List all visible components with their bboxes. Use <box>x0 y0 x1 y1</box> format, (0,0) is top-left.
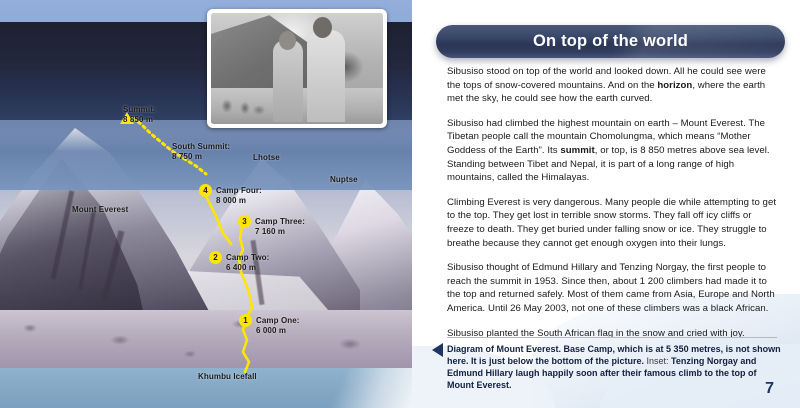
label-camp-four: Camp Four: 8 000 m <box>216 186 262 206</box>
book-spread: Summit: 8 850 m South Summit: 8 750 m Lh… <box>0 0 800 408</box>
label-mount-everest: Mount Everest <box>72 205 128 215</box>
label-khumbu-icefall: Khumbu Icefall <box>198 372 257 382</box>
paragraph-3: Climbing Everest is very dangerous. Many… <box>447 196 779 250</box>
article-title-bar: On top of the world <box>436 25 785 58</box>
photo-head-hillary <box>313 17 332 38</box>
figure-caption: Diagram of Mount Everest. Base Camp, whi… <box>447 343 782 391</box>
label-camp-one: Camp One: 6 000 m <box>256 316 300 336</box>
photo-background-figures <box>219 94 265 116</box>
caption-arrow-icon <box>432 343 443 357</box>
label-south-summit: South Summit: 8 750 m <box>172 142 230 162</box>
photo-person-hillary <box>307 30 345 122</box>
paragraph-1: Sibusiso stood on top of the world and l… <box>447 65 779 106</box>
label-lhotse: Lhotse <box>253 153 280 163</box>
page-title: On top of the world <box>436 25 785 58</box>
caption-text: Diagram of Mount Everest. Base Camp, whi… <box>447 343 782 391</box>
label-camp-two: Camp Two: 6 400 m <box>226 253 269 273</box>
inset-photo-frame <box>207 9 387 128</box>
paragraph-2: Sibusiso had climbed the highest mountai… <box>447 117 779 185</box>
paragraph-5: Sibusiso planted the South African flag … <box>447 327 779 341</box>
left-page-diagram: Summit: 8 850 m South Summit: 8 750 m Lh… <box>0 0 412 408</box>
camp-marker-4: 4 <box>199 184 212 197</box>
article-body: Sibusiso stood on top of the world and l… <box>447 65 779 351</box>
photo-head-tenzing <box>279 31 296 50</box>
camp-marker-2: 2 <box>209 251 222 264</box>
camp-marker-3: 3 <box>238 215 251 228</box>
camp-marker-1: 1 <box>239 314 252 327</box>
label-nuptse: Nuptse <box>330 175 358 185</box>
label-camp-three: Camp Three: 7 160 m <box>255 217 305 237</box>
photo-person-tenzing <box>273 40 303 122</box>
caption-divider <box>447 337 777 338</box>
paragraph-4: Sibusiso thought of Edmund Hillary and T… <box>447 261 779 315</box>
inset-photo-image <box>211 13 383 124</box>
label-summit: Summit: 8 850 m <box>123 105 156 125</box>
right-page-text: On top of the world Sibusiso stood on to… <box>412 0 800 408</box>
page-number: 7 <box>765 380 774 398</box>
